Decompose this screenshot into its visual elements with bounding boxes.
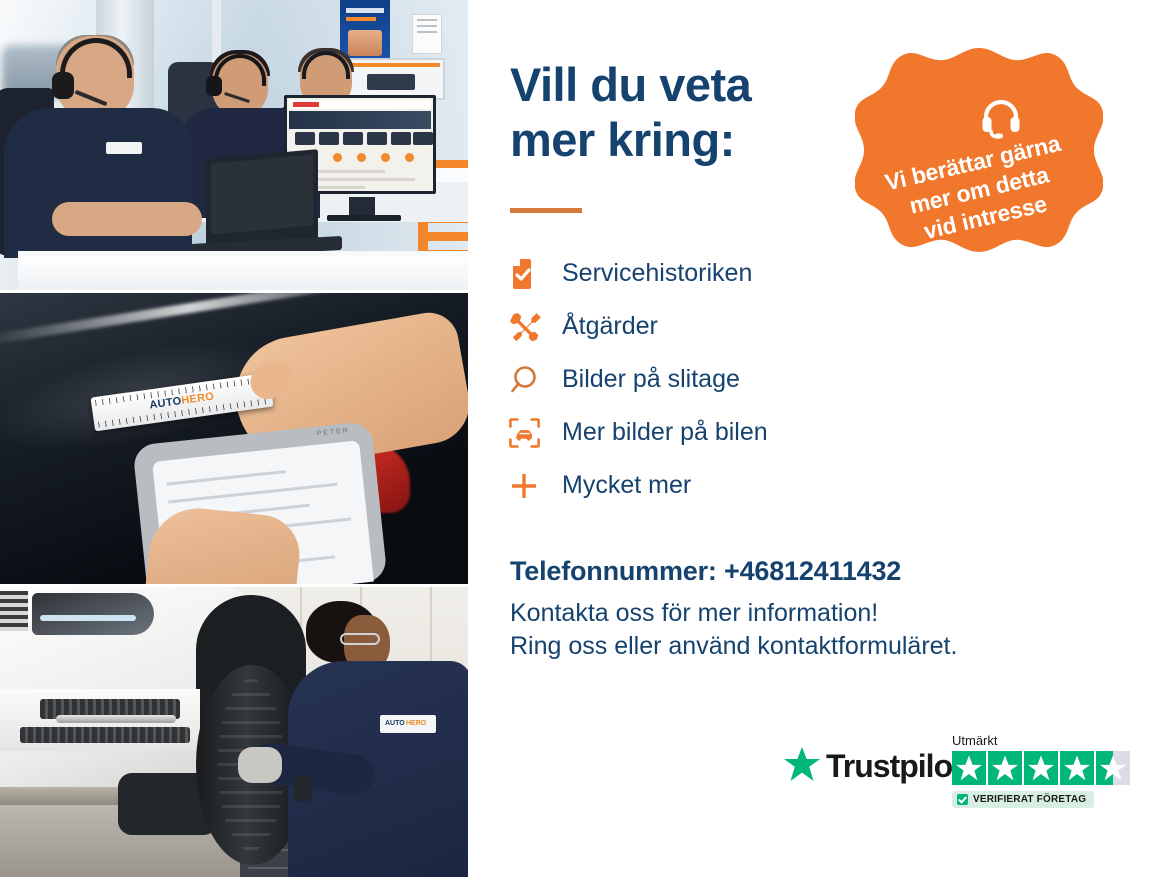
- rating-label: Utmärkt: [952, 733, 1130, 748]
- feature-item-mer-bilder-pa-bilen: Mer bilder på bilen: [508, 406, 938, 459]
- feature-label: Åtgärder: [562, 312, 658, 341]
- promo-card: AUTOHERO PETER: [0, 0, 1170, 877]
- phone-label: Telefonnummer:: [510, 556, 717, 586]
- star-half: [1096, 751, 1130, 785]
- plus-icon: [508, 470, 562, 502]
- paint-inspection-photo: AUTOHERO PETER: [0, 293, 468, 583]
- document-check-icon: [508, 257, 562, 291]
- contact-text: Kontakta oss för mer information! Ring o…: [510, 597, 1070, 663]
- page-title: Vill du veta mer kring:: [510, 58, 840, 167]
- star-rating: [952, 751, 1130, 785]
- star-filled: [1024, 751, 1058, 785]
- feature-item-bilder-pa-slitage: Bilder på slitage: [508, 353, 938, 406]
- verified-company-badge: VERIFIERAT FÖRETAG: [952, 791, 1094, 808]
- mechanic: AUTOHERO: [296, 599, 468, 877]
- tyre-service-photo: AUTOHERO: [0, 587, 468, 877]
- trustpilot-logo[interactable]: Trustpilot: [784, 747, 962, 786]
- check-icon: [957, 794, 968, 805]
- car-scan-icon: [508, 417, 562, 449]
- trustpilot-star-icon: [784, 747, 820, 786]
- feature-label: Bilder på slitage: [562, 365, 740, 394]
- agent-foreground: [30, 36, 170, 251]
- verified-label: VERIFIERAT FÖRETAG: [973, 794, 1086, 805]
- feature-item-atgarder: Åtgärder: [508, 300, 938, 353]
- photo-column: AUTOHERO PETER: [0, 0, 468, 877]
- title-divider: [510, 208, 582, 213]
- star-filled: [952, 751, 986, 785]
- feature-label: Servicehistoriken: [562, 259, 752, 288]
- wall-notice: [412, 14, 442, 54]
- phone-number[interactable]: +46812411432: [724, 556, 901, 586]
- contact-line-2: Ring oss eller använd kontaktformuläret.: [510, 632, 957, 660]
- star-filled: [1060, 751, 1094, 785]
- feature-label: Mer bilder på bilen: [562, 418, 768, 447]
- trustpilot-rating: Utmärkt: [952, 733, 1130, 810]
- headline-line-2: mer kring:: [510, 113, 735, 166]
- headlight: [32, 593, 154, 635]
- trustpilot-brand-name: Trustpilot: [826, 748, 962, 785]
- callout-badge: Vi berättar gärna mer om detta vid intre…: [855, 44, 1103, 302]
- feature-item-mycket-mer: Mycket mer: [508, 459, 938, 512]
- feature-label: Mycket mer: [562, 471, 691, 500]
- chrome-trim: [56, 715, 176, 723]
- tools-icon: [508, 310, 562, 344]
- phone-line[interactable]: Telefonnummer: +46812411432: [510, 556, 1070, 587]
- laptop: [206, 149, 318, 251]
- trustpilot-widget[interactable]: Trustpilot Utmärkt: [784, 733, 1144, 819]
- content-column: Vill du veta mer kring: Servicehistorike…: [468, 0, 1170, 877]
- headline-line-1: Vill du veta: [510, 58, 751, 111]
- bumper-vent: [20, 727, 190, 743]
- contact-block: Telefonnummer: +46812411432 Kontakta oss…: [510, 556, 1070, 663]
- contact-line-1: Kontakta oss för mer information!: [510, 599, 878, 627]
- radiator-grille: [0, 591, 28, 631]
- desk: [18, 255, 468, 290]
- magnifier-icon: [508, 364, 562, 396]
- star-filled: [988, 751, 1022, 785]
- call-centre-agents-photo: [0, 0, 468, 290]
